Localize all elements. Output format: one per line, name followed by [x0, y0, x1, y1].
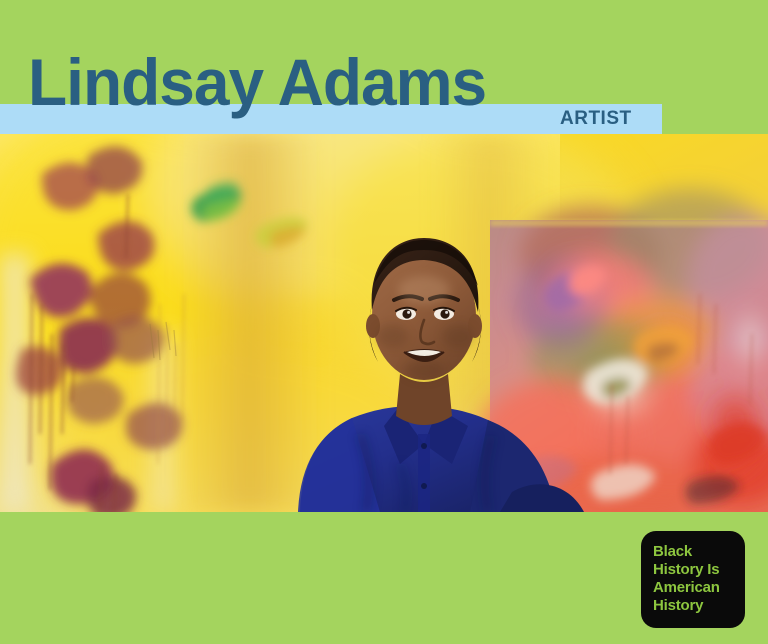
logo-line-4: History: [653, 597, 741, 615]
page-title: Lindsay Adams: [28, 49, 486, 115]
portrait-photo: [0, 134, 768, 512]
black-history-artist-card: Lindsay Adams ARTIST: [0, 0, 768, 644]
header: Lindsay Adams ARTIST: [0, 0, 768, 134]
black-history-logo: Black History Is American History: [641, 531, 745, 628]
role-label: ARTIST: [560, 109, 632, 128]
logo-line-3: American: [653, 579, 741, 597]
portrait-photo-illustration: [0, 134, 768, 512]
logo-text: Black History Is American History: [653, 543, 741, 615]
logo-line-2: History Is: [653, 561, 741, 579]
logo-line-1: Black: [653, 543, 741, 561]
